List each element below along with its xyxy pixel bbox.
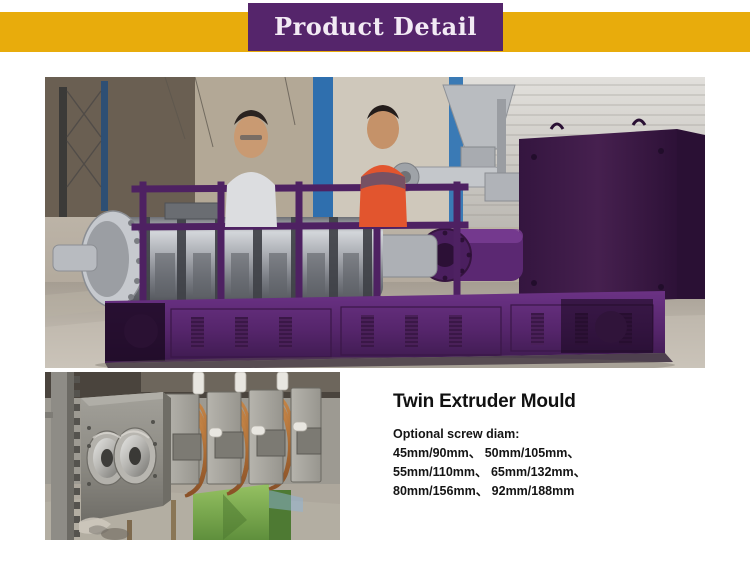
spec-label: Optional screw diam: bbox=[393, 425, 723, 444]
extruder-machine-illustration bbox=[45, 77, 705, 368]
extruder-mould-illustration bbox=[45, 372, 340, 540]
spec-line-1: 45mm/90mm、 50mm/105mm、 bbox=[393, 444, 723, 463]
header-plaque: Product Detail bbox=[248, 3, 503, 51]
product-caption-block: Twin Extruder Mould Optional screw diam:… bbox=[393, 392, 723, 501]
main-product-photo bbox=[45, 77, 705, 368]
page-title: Product Detail bbox=[274, 15, 477, 39]
spec-line-3: 80mm/156mm、 92mm/188mm bbox=[393, 482, 723, 501]
mould-photo bbox=[45, 372, 340, 540]
spec-line-2: 55mm/110mm、 65mm/132mm、 bbox=[393, 463, 723, 482]
caption-heading: Twin Extruder Mould bbox=[393, 392, 723, 413]
